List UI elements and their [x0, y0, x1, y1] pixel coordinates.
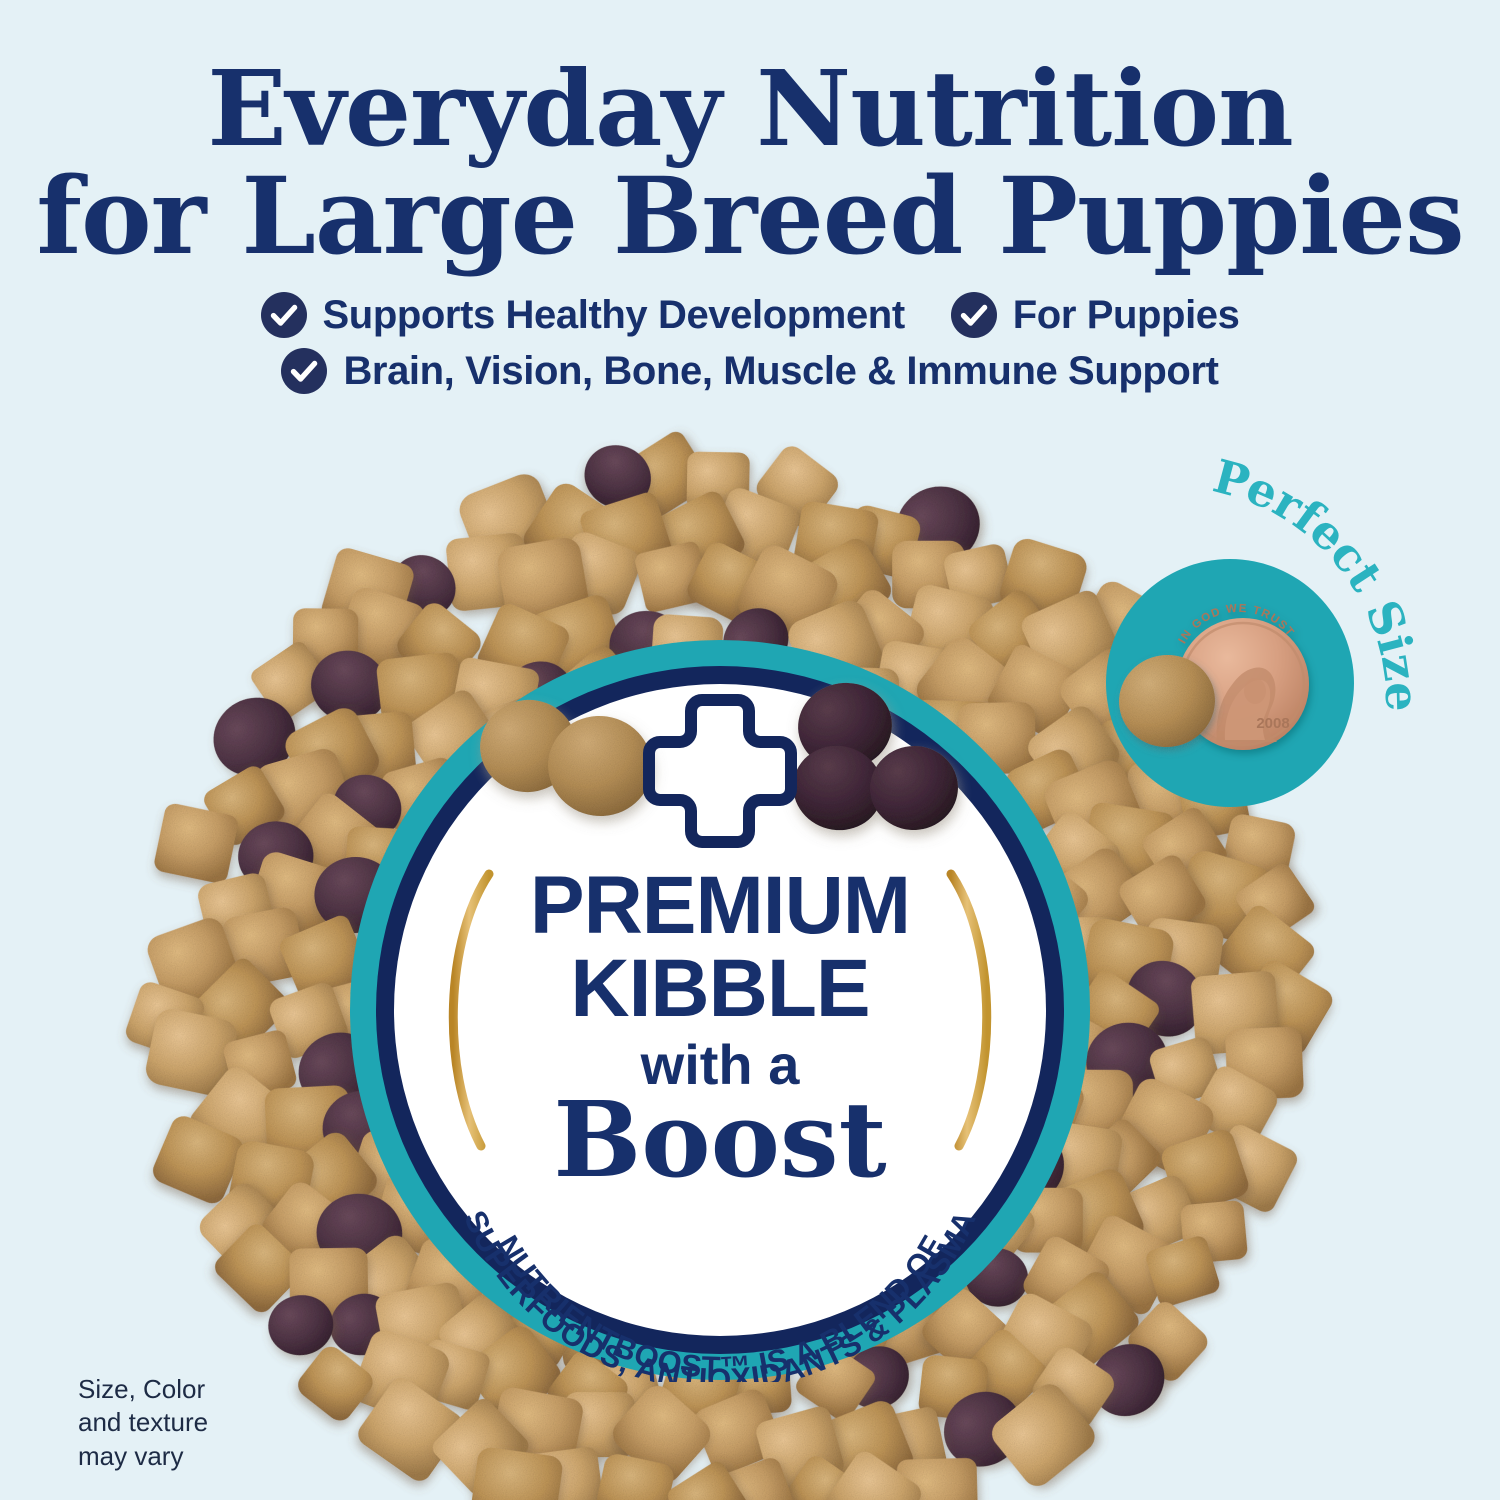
- badge-title-kibble: KIBBLE: [570, 943, 869, 1034]
- check-circle-icon: [281, 348, 327, 394]
- benefit-item-supports-healthy-development: Supports Healthy Development: [261, 292, 905, 338]
- benefit-item-brain-vision-bone-muscle-immune-support: Brain, Vision, Bone, Muscle & Immune Sup…: [281, 348, 1218, 394]
- benefit-row-1: Supports Healthy Development For Puppies: [0, 292, 1500, 338]
- check-circle-icon: [261, 292, 307, 338]
- benefit-label: For Puppies: [1013, 293, 1240, 338]
- headline-line-2: for Large Breed Puppies: [0, 162, 1500, 270]
- badge-title-premium: PREMIUM: [530, 860, 910, 951]
- check-circle-icon: [951, 292, 997, 338]
- perfect-size-badge: IN GOD WE TRUST 2008: [1105, 558, 1355, 808]
- benefit-label: Supports Healthy Development: [323, 293, 905, 338]
- page-headline: Everyday Nutrition for Large Breed Puppi…: [0, 56, 1500, 270]
- benefit-item-for-puppies: For Puppies: [951, 292, 1240, 338]
- benefit-bullets: Supports Healthy Development For Puppies: [0, 292, 1500, 404]
- benefit-label: Brain, Vision, Bone, Muscle & Immune Sup…: [343, 349, 1218, 394]
- disclaimer-text: Size, Color and texture may vary: [78, 1373, 208, 1473]
- coin-year: 2008: [1256, 715, 1289, 732]
- product-infographic: Everyday Nutrition for Large Breed Puppi…: [0, 0, 1500, 1500]
- benefit-row-2: Brain, Vision, Bone, Muscle & Immune Sup…: [0, 348, 1500, 394]
- badge-title-boost: Boost: [553, 1078, 886, 1201]
- headline-line-1: Everyday Nutrition: [0, 56, 1500, 162]
- premium-kibble-badge: PREMIUM KIBBLE with a Boost NUTRIENTBOOS…: [348, 638, 1092, 1382]
